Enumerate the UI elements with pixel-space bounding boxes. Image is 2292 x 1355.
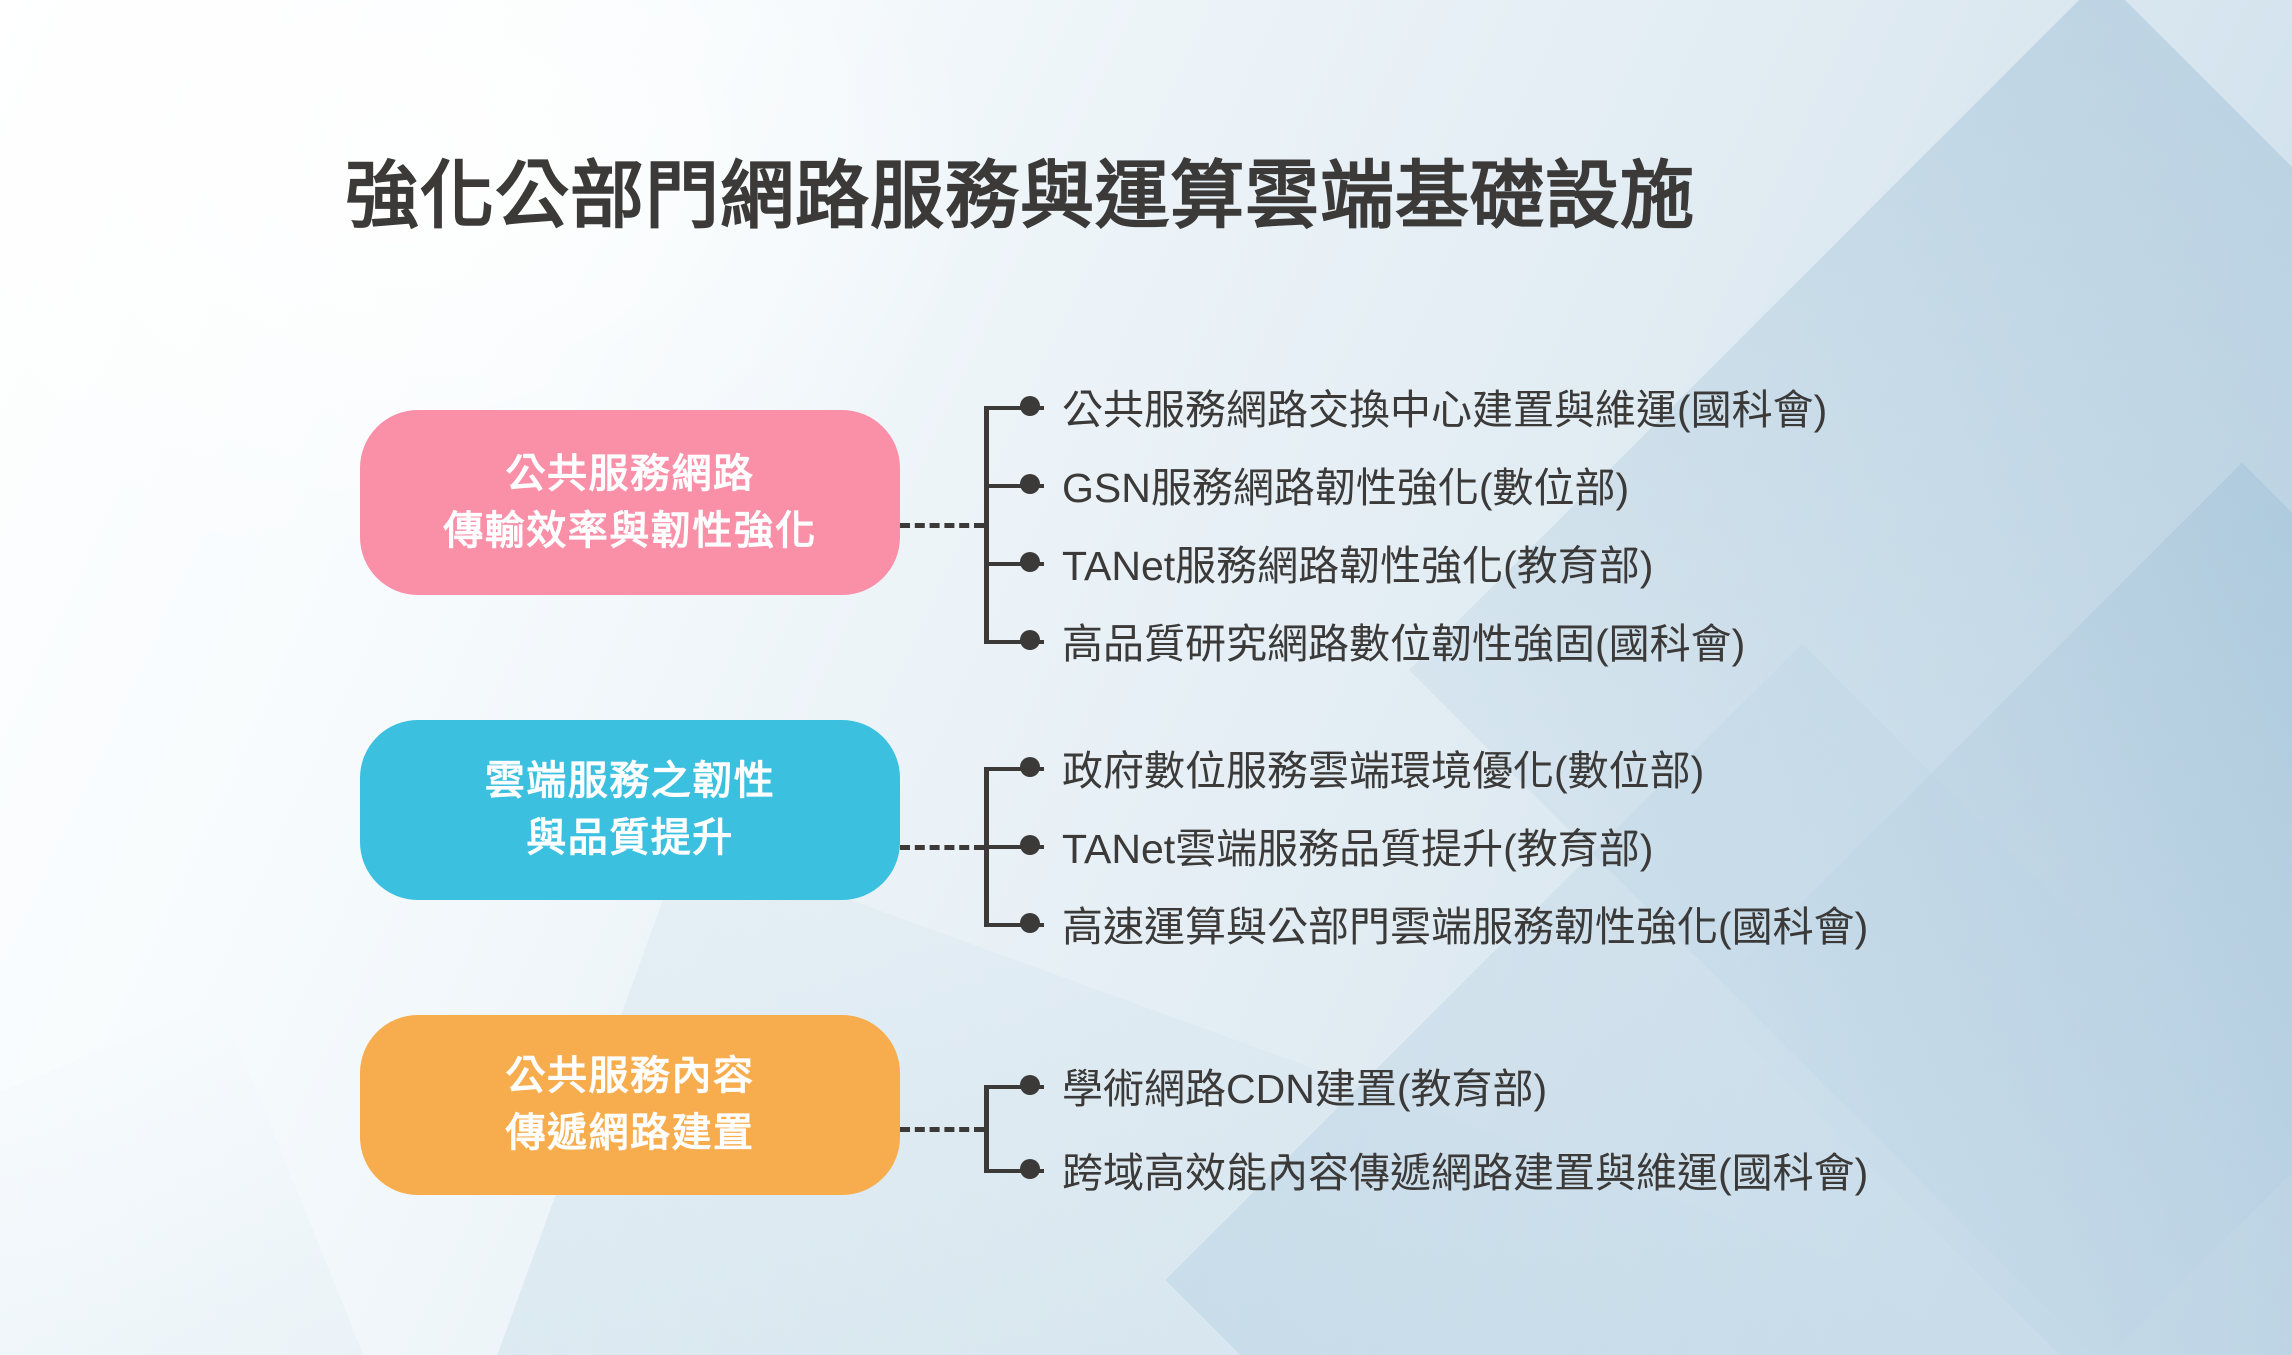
list-item[interactable]: TANet服務網路韌性強化(教育部) <box>1020 523 1827 601</box>
category-group: 公共服務網路 傳輸效率與韌性強化 公共服務網路交換中心建置與維運(國科會)GSN… <box>0 350 2292 610</box>
category-pill-line2: 傳輸效率與韌性強化 <box>443 503 817 560</box>
item-list: 政府數位服務雲端環境優化(數位部)TANet雲端服務品質提升(教育部)高速運算與… <box>1020 728 1868 962</box>
category-pill-line1: 公共服務內容 <box>506 1048 755 1105</box>
item-list: 公共服務網路交換中心建置與維運(國科會)GSN服務網路韌性強化(數位部)TANe… <box>1020 367 1827 679</box>
list-item[interactable]: 高品質研究網路數位韌性強固(國科會) <box>1020 601 1827 679</box>
connector-vertical-line <box>984 1085 989 1169</box>
category-pill-cloud-service-resilience[interactable]: 雲端服務之韌性 與品質提升 <box>360 720 900 900</box>
bullet-icon <box>1020 1159 1040 1179</box>
category-pill-content-delivery-network[interactable]: 公共服務內容 傳遞網路建置 <box>360 1015 900 1195</box>
list-item-label: 高速運算與公部門雲端服務韌性強化(國科會) <box>1062 893 1868 953</box>
item-list: 學術網路CDN建置(教育部)跨域高效能內容傳遞網路建置與維運(國科會) <box>1020 1043 1868 1211</box>
bullet-icon <box>1020 552 1040 572</box>
list-item-label: 高品質研究網路數位韌性強固(國科會) <box>1062 610 1745 670</box>
list-item[interactable]: 政府數位服務雲端環境優化(數位部) <box>1020 728 1868 806</box>
list-item[interactable]: 學術網路CDN建置(教育部) <box>1020 1043 1868 1127</box>
list-item-label: 公共服務網路交換中心建置與維運(國科會) <box>1062 376 1827 436</box>
bullet-icon <box>1020 396 1040 416</box>
list-item-label: GSN服務網路韌性強化(數位部) <box>1062 454 1629 514</box>
list-item-label: 政府數位服務雲端環境優化(數位部) <box>1062 737 1704 797</box>
category-pill-line2: 傳遞網路建置 <box>506 1105 755 1162</box>
page-title: 強化公部門網路服務與運算雲端基礎設施 <box>345 136 1695 243</box>
connector-dashed-line <box>900 523 984 528</box>
category-pill-line1: 雲端服務之韌性 <box>485 753 776 810</box>
list-item-label: 學術網路CDN建置(教育部) <box>1062 1055 1547 1115</box>
category-pill-line2: 與品質提升 <box>526 810 734 867</box>
list-item[interactable]: GSN服務網路韌性強化(數位部) <box>1020 445 1827 523</box>
bullet-icon <box>1020 474 1040 494</box>
bullet-icon <box>1020 630 1040 650</box>
connector-vertical-line <box>984 406 989 640</box>
bullet-icon <box>1020 1075 1040 1095</box>
list-item[interactable]: 公共服務網路交換中心建置與維運(國科會) <box>1020 367 1827 445</box>
connector-dashed-line <box>900 845 984 850</box>
category-group: 公共服務內容 傳遞網路建置 學術網路CDN建置(教育部)跨域高效能內容傳遞網路建… <box>0 1015 2292 1200</box>
slide-canvas: 強化公部門網路服務與運算雲端基礎設施 公共服務網路 傳輸效率與韌性強化 公共服務… <box>0 0 2292 1355</box>
category-pill-public-service-network[interactable]: 公共服務網路 傳輸效率與韌性強化 <box>360 410 900 595</box>
list-item[interactable]: 跨域高效能內容傳遞網路建置與維運(國科會) <box>1020 1127 1868 1211</box>
list-item[interactable]: 高速運算與公部門雲端服務韌性強化(國科會) <box>1020 884 1868 962</box>
list-item-label: TANet服務網路韌性強化(教育部) <box>1062 532 1653 592</box>
bullet-icon <box>1020 835 1040 855</box>
list-item[interactable]: TANet雲端服務品質提升(教育部) <box>1020 806 1868 884</box>
list-item-label: 跨域高效能內容傳遞網路建置與維運(國科會) <box>1062 1139 1868 1199</box>
connector-dashed-line <box>900 1127 984 1132</box>
bullet-icon <box>1020 913 1040 933</box>
bullet-icon <box>1020 757 1040 777</box>
list-item-label: TANet雲端服務品質提升(教育部) <box>1062 815 1653 875</box>
category-pill-line1: 公共服務網路 <box>506 446 755 503</box>
category-group: 雲端服務之韌性 與品質提升 政府數位服務雲端環境優化(數位部)TANet雲端服務… <box>0 718 2292 908</box>
